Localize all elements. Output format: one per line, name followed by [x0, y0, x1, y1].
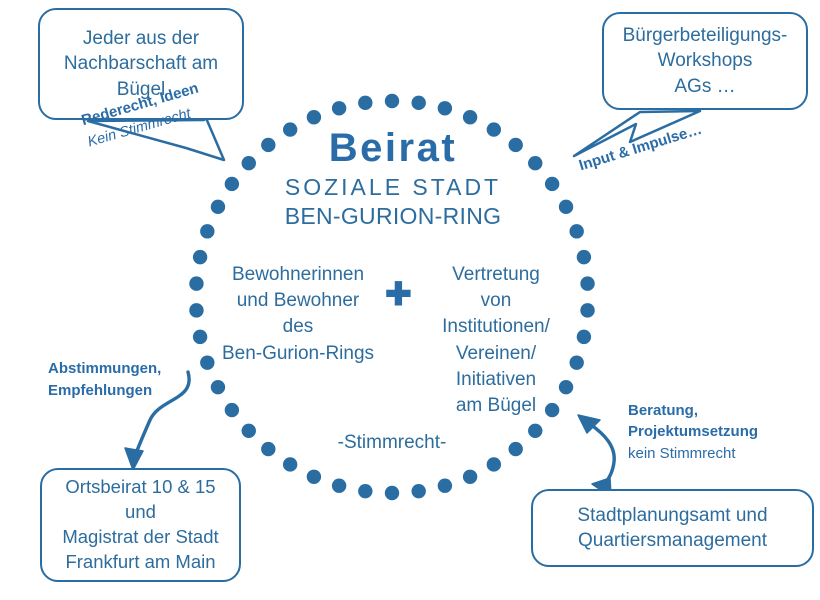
- ring-dot: [200, 224, 214, 238]
- group-institutions: Vertretung von Institutionen/ Vereinen/ …: [406, 262, 586, 419]
- ring-dot: [332, 479, 346, 493]
- ring-dot: [528, 156, 542, 170]
- ring-dot: [242, 424, 256, 438]
- ring-dot: [545, 177, 559, 191]
- ring-dot: [225, 177, 239, 191]
- voting-right-note: -Stimmrecht-: [302, 432, 482, 454]
- ring-dot: [189, 276, 203, 290]
- ring-dot: [225, 403, 239, 417]
- label-input-impulse: Input & Impulse…: [577, 121, 704, 175]
- ring-dot: [463, 110, 477, 124]
- ring-dot: [307, 110, 321, 124]
- ring-dot: [411, 484, 425, 498]
- ring-dot: [242, 156, 256, 170]
- ring-dot: [385, 486, 399, 500]
- subtitle-soziale-stadt: SOZIALE STADT: [262, 174, 524, 201]
- ring-dot: [211, 380, 225, 394]
- ring-dot: [438, 101, 452, 115]
- ring-dot: [508, 442, 522, 456]
- arrow-beratung: [590, 424, 614, 488]
- ring-dot: [569, 224, 583, 238]
- ring-dot: [332, 101, 346, 115]
- ring-dot: [528, 424, 542, 438]
- ring-dot: [438, 479, 452, 493]
- page-title: Beirat: [262, 126, 524, 171]
- ring-dot: [261, 442, 275, 456]
- box-planning-office[interactable]: Stadtplanungsamt und Quartiersmanagement: [531, 489, 814, 567]
- label-beratung-main: Beratung, Projektumsetzung: [628, 402, 758, 440]
- ring-dot: [385, 94, 399, 108]
- ring-dot: [283, 457, 297, 471]
- ring-dot: [463, 470, 477, 484]
- arrow-abstimmungen-head: [125, 448, 143, 470]
- ring-dot: [358, 484, 372, 498]
- box-district-council[interactable]: Ortsbeirat 10 & 15 und Magistrat der Sta…: [40, 468, 241, 582]
- ring-dot: [411, 96, 425, 110]
- diagram-canvas: Jeder aus der Nachbarschaft am Bügel Bür…: [0, 0, 820, 600]
- group-residents: Bewohnerinnen und Bewohner des Ben-Gurio…: [205, 262, 391, 367]
- ring-dot: [559, 200, 573, 214]
- ring-dot: [487, 457, 501, 471]
- label-beratung: Beratung, Projektumsetzungkein Stimmrech…: [628, 400, 758, 464]
- ring-dot: [211, 200, 225, 214]
- ring-dot: [358, 96, 372, 110]
- ring-dot: [307, 470, 321, 484]
- label-beratung-sub: kein Stimmrecht: [628, 443, 758, 464]
- bubble-participation[interactable]: Bürgerbeteiligungs- Workshops AGs …: [602, 12, 808, 110]
- ring-dot: [189, 303, 203, 317]
- label-abstimmungen: Abstimmungen, Empfehlungen: [48, 358, 161, 402]
- subtitle-ben-gurion-ring: BEN-GURION-RING: [262, 203, 524, 230]
